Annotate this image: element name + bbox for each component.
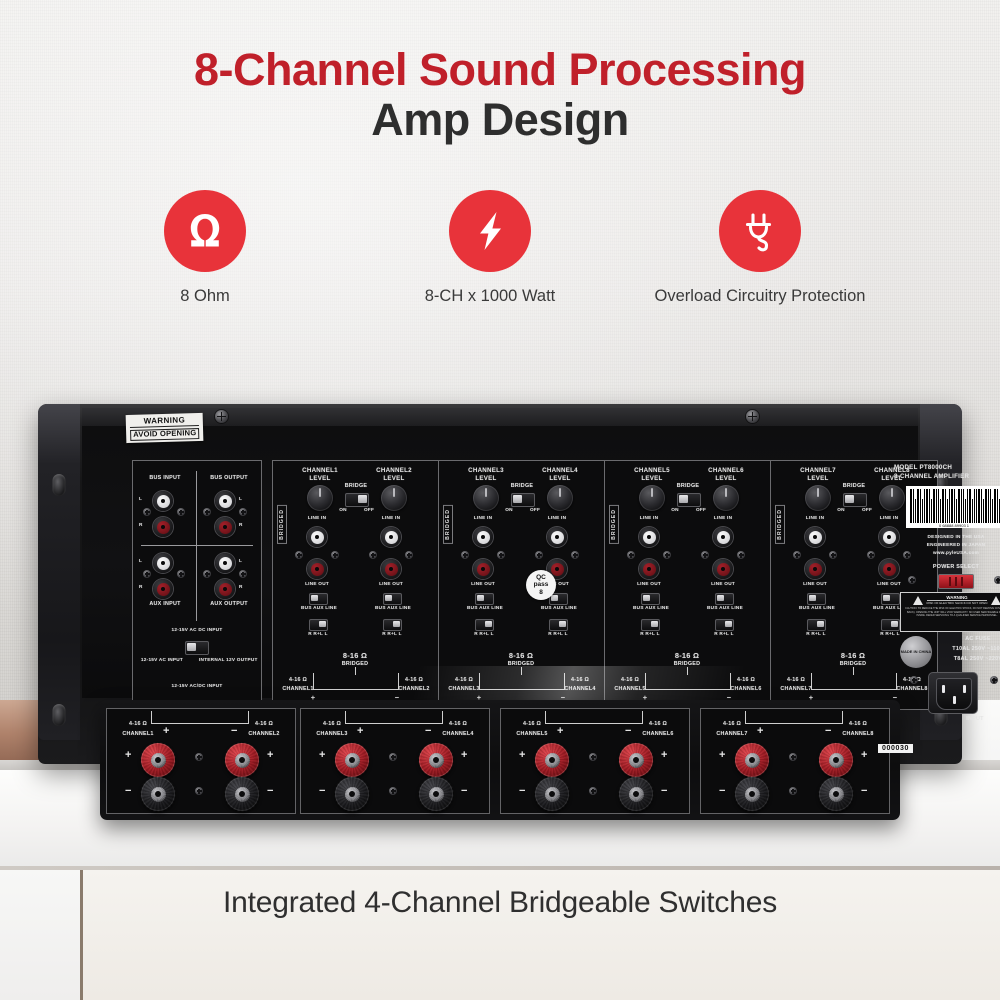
bridge-plus-sign: + [557,725,563,737]
ohm-icon [181,207,229,255]
channel-a-name: CHANNEL5 [619,467,685,475]
binding-post-a-positive[interactable] [335,743,369,777]
channel-a-line-in-jack[interactable] [473,527,493,547]
website-label: www.pyleUSA.com [894,550,1000,556]
fuse-220v-label: T8AL 250V ~220V [938,656,1000,663]
channel-b-level-knob[interactable] [713,485,739,511]
rack-mount-hole [53,474,66,496]
channel-a-bus-aux-line-label: BUS AUX LINE [291,605,347,611]
feature-icon-circle [719,190,801,272]
product-marketing-image: 8-Channel Sound Processing Amp Design 8 … [0,0,1000,1000]
channel-b-impedance-label: 4-16 Ω [393,677,435,684]
bus-input-right-jack[interactable] [153,517,173,537]
channel-b-line-out-label: LINE OUT [709,581,737,587]
binding-post-b-negative[interactable] [619,777,653,811]
panel-screw [331,551,339,559]
terminal-b-plus-sign: + [861,749,867,761]
bridge-bracket-stem [853,667,854,675]
channel-module-3-4: BRIDGED CHANNEL3 LEVEL LINE IN LINE OUT … [438,460,606,710]
bridge-off-label: OFF [361,507,377,513]
terminal-a-channel: CHANNEL1 [111,731,165,738]
channel-b-level-label: LEVEL [527,475,593,483]
binding-post-b-negative[interactable] [225,777,259,811]
barcode [906,486,1000,528]
feature-icon-circle [449,190,531,272]
speaker-terminal-module-7-8: 4-16 Ω CHANNEL7 4-16 Ω CHANNEL8 + − + + … [700,708,890,814]
channel-a-rrl-label: R R+L L [791,631,841,637]
channel-a-line-out-label: LINE OUT [303,581,331,587]
terminal-a-minus-sign: − [319,785,325,797]
feature-label: 8 Ohm [90,286,320,307]
panel-screw [497,551,505,559]
channel-b-rrl-switch[interactable] [715,619,734,631]
bus-output-label: BUS OUTPUT [205,475,253,482]
channel-a-line-in-label: LINE IN [469,515,497,521]
panel-screw [239,508,247,516]
electric-shock-warning-box: WARNING RISK OF ELECTRIC SHOCK DO NOT OP… [900,592,1000,632]
bridge-switch[interactable] [677,493,701,507]
internal-output-label: INTERNAL 12V OUTPUT [199,657,255,663]
bus-input-left-letter: L [139,496,142,502]
bridged-impedance-label: 8-16 Ω [653,651,721,660]
product-type-label: 8-CHANNEL AMPLIFIER [894,473,1000,481]
channel-b-source-switch[interactable] [383,593,402,605]
feature-item-protection: Overload Circuitry Protection [645,190,875,307]
panel-screw [239,570,247,578]
feature-item-ohm: 8 Ohm [90,190,320,307]
input-label: INPUT [950,716,1000,723]
panel-screw [369,551,377,559]
channel-b-terminal-name: CHANNEL4 [559,686,601,693]
channel-b-name: CHANNEL2 [361,467,427,475]
panel-screw [990,676,998,684]
channel-a-rrl-switch[interactable] [475,619,494,631]
bridge-plus-sign: + [163,725,169,737]
panel-screw [177,570,185,578]
channel-a-source-switch[interactable] [641,593,660,605]
channel-b-line-out-jack[interactable] [381,559,401,579]
panel-screw [405,551,413,559]
channel-a-level-label: LEVEL [785,475,851,483]
bus-input-right-letter: R [139,522,143,528]
panel-screw [701,551,709,559]
channel-b-level-label: LEVEL [361,475,427,483]
panel-screw [908,576,916,584]
panel-screw [589,787,597,795]
terminal-b-plus-sign: + [461,749,467,761]
panel-screw [793,551,801,559]
channel-b-bus-aux-line-label: BUS AUX LINE [531,605,587,611]
bridged-impedance-label: 8-16 Ω [487,651,555,660]
channel-b-terminal-name: CHANNEL2 [393,686,435,693]
channel-a-impedance-label: 4-16 Ω [277,677,319,684]
bridge-bracket [479,673,565,690]
aux-output-right-jack[interactable] [215,579,235,599]
headline-block: 8-Channel Sound Processing Amp Design [0,46,1000,146]
channel-a-source-switch[interactable] [309,593,328,605]
bridge-minus-sign: − [625,725,631,737]
aux-input-right-jack[interactable] [153,579,173,599]
binding-post-b-negative[interactable] [419,777,453,811]
bridge-bracket [811,673,897,690]
channel-b-line-in-jack[interactable] [381,527,401,547]
bridged-vertical-label: BRIDGED [277,505,287,544]
bridge-minus-sign: − [231,725,237,737]
panel-screw [295,551,303,559]
binding-post-b-positive[interactable] [619,743,653,777]
qc-line-3: 8 [539,589,543,596]
channel-b-level-knob[interactable] [547,485,573,511]
dc-input-label: 12-15V AC DC INPUT [167,627,227,633]
qc-pass-sticker: QC pass 8 [526,570,556,600]
terminal-b-plus-sign: + [267,749,273,761]
terminal-b-plus-sign: + [661,749,667,761]
channel-b-terminal-name: CHANNEL6 [725,686,767,693]
feature-label: Overload Circuitry Protection [645,286,875,307]
qc-line-2: pass [534,581,549,588]
bridge-plus-sign: + [357,725,363,737]
channel-a-level-knob[interactable] [805,485,831,511]
feature-icon-circle [164,190,246,272]
bottom-caption: Integrated 4-Channel Bridgeable Switches [0,886,1000,920]
panel-screw [627,551,635,559]
binding-post-a-positive[interactable] [141,743,175,777]
channel-a-line-out-label: LINE OUT [801,581,829,587]
bridge-switch[interactable] [511,493,535,507]
product-info-panel: MODEL PT8000CH 8-CHANNEL AMPLIFIER 0 688… [894,460,1000,708]
panel-screw [589,753,597,761]
channel-a-rrl-switch[interactable] [641,619,660,631]
terminal-b-channel: CHANNEL8 [831,731,885,738]
channel-a-level-knob[interactable] [307,485,333,511]
bridge-switch[interactable] [345,493,369,507]
panel-screw [461,551,469,559]
panel-screw [789,753,797,761]
channel-a-impedance-label: 4-16 Ω [443,677,485,684]
channel-b-source-switch[interactable] [715,593,734,605]
panel-screw [389,753,397,761]
power-plug-icon [735,206,785,256]
iec-power-inlet[interactable] [928,672,978,714]
panel-screw [571,551,579,559]
panel-screw [867,551,875,559]
channel-a-bus-aux-line-label: BUS AUX LINE [623,605,679,611]
channel-a-level-label: LEVEL [453,475,519,483]
panel-screw [910,676,918,684]
io-divider-vertical [196,471,197,621]
bus-output-right-jack[interactable] [215,517,235,537]
channel-b-line-out-jack[interactable] [713,559,733,579]
binding-post-a-negative[interactable] [535,777,569,811]
bus-input-label: BUS INPUT [143,475,187,482]
panel-screw [663,551,671,559]
channel-module-1-2: BRIDGED CHANNEL1 LEVEL LINE IN LINE OUT … [272,460,440,710]
power-select-switch[interactable] [938,574,974,589]
power-select-label: POWER SELECT [894,564,1000,571]
binding-post-b-positive[interactable] [819,743,853,777]
channel-b-rrl-label: R R+L L [533,631,583,637]
feature-icon-row: 8 Ohm 8-CH x 1000 Watt [0,190,1000,340]
bus-output-left-jack[interactable] [215,491,235,511]
barcode-number: 0 68888 89903 1 [906,523,1000,528]
terminal-b-channel: CHANNEL4 [431,731,485,738]
channel-a-level-knob[interactable] [639,485,665,511]
channel-a-rrl-label: R R+L L [293,631,343,637]
bridge-label: BRIDGE [497,483,547,490]
channel-a-bus-aux-line-label: BUS AUX LINE [789,605,845,611]
channel-a-line-in-jack[interactable] [307,527,327,547]
bridge-label: BRIDGE [663,483,713,490]
serial-number-sticker: 000030 [878,744,913,753]
bridge-on-label: ON [667,507,683,513]
bridge-bracket-stem [521,667,522,675]
binding-post-a-negative[interactable] [735,777,769,811]
channel-a-bus-aux-line-label: BUS AUX LINE [457,605,513,611]
terminal-b-channel: CHANNEL2 [237,731,291,738]
channel-b-line-out-label: LINE OUT [377,581,405,587]
channel-a-level-knob[interactable] [473,485,499,511]
channel-a-source-switch[interactable] [807,593,826,605]
channel-a-line-out-jack[interactable] [307,559,327,579]
warning-triangle-icon-right [991,596,1000,605]
channel-b-rrl-switch[interactable] [549,619,568,631]
speaker-terminal-module-1-2: 4-16 Ω CHANNEL1 4-16 Ω CHANNEL2 + − + + … [106,708,296,814]
channel-a-terminal-name: CHANNEL7 [775,686,817,693]
terminal-a-minus-sign: − [719,785,725,797]
terminal-a-plus-sign: + [519,749,525,761]
channel-a-terminal-name: CHANNEL5 [609,686,651,693]
channel-a-line-out-jack[interactable] [473,559,493,579]
rack-mount-hole [53,704,66,726]
channel-b-line-in-label: LINE IN [709,515,737,521]
lightning-bolt-icon [466,207,514,255]
terminal-b-minus-sign: − [861,785,867,797]
warning-body-text: CAUTION: TO REDUCE THE RISK OF ELECTRIC … [903,607,1000,616]
channel-b-rrl-switch[interactable] [383,619,402,631]
binding-post-b-negative[interactable] [819,777,853,811]
bridged-impedance-label: 8-16 Ω [321,651,389,660]
fuse-110v-label: T10AL 250V ~110V [938,646,1000,653]
panel-screw [195,753,203,761]
channel-a-name: CHANNEL7 [785,467,851,475]
bridge-on-label: ON [501,507,517,513]
terminal-a-minus-sign: − [125,785,131,797]
aux-output-left-letter: L [239,558,242,564]
speaker-terminal-module-3-4: 4-16 Ω CHANNEL3 4-16 Ω CHANNEL4 + − + + … [300,708,490,814]
designed-in-label: DESIGNED IN THE USA [894,534,1000,540]
panel-screw [829,551,837,559]
aux-input-right-letter: R [139,584,143,590]
made-in-text: MADE IN CHINA [901,650,932,655]
aux-input-left-jack[interactable] [153,553,173,573]
bridge-bracket [745,711,843,724]
chassis-screw [746,410,759,423]
headline-line-2: Amp Design [0,94,1000,146]
panel-screw [143,508,151,516]
aux-input-label: AUX INPUT [143,601,187,608]
warning-sticker-subtitle: AVOID OPENING [130,428,199,441]
headline-line-1: 8-Channel Sound Processing [0,46,1000,94]
channel-a-rrl-label: R R+L L [459,631,509,637]
aux-output-left-jack[interactable] [215,553,235,573]
channel-b-line-in-label: LINE IN [377,515,405,521]
bus-input-left-jack[interactable] [153,491,173,511]
channel-a-rrl-label: R R+L L [625,631,675,637]
channel-b-line-in-jack[interactable] [547,527,567,547]
channel-a-source-switch[interactable] [475,593,494,605]
feature-item-power: 8-CH x 1000 Watt [375,190,605,307]
channel-a-line-in-jack[interactable] [805,527,825,547]
channel-b-line-in-jack[interactable] [713,527,733,547]
chassis-screw [215,410,228,423]
channel-a-impedance-label: 4-16 Ω [609,677,651,684]
engineered-in-label: ENGINEERED IN JAPAN [894,542,1000,548]
bridge-plus-sign: + [757,725,763,737]
channel-a-terminal-name: CHANNEL1 [277,686,319,693]
channel-b-line-in-label: LINE IN [543,515,571,521]
channel-b-rrl-label: R R+L L [699,631,749,637]
terminal-b-minus-sign: − [661,785,667,797]
channel-a-level-label: LEVEL [619,475,685,483]
channel-b-bus-aux-line-label: BUS AUX LINE [697,605,753,611]
panel-screw [177,508,185,516]
channel-a-line-in-label: LINE IN [303,515,331,521]
channel-b-impedance-label: 4-16 Ω [559,677,601,684]
bridge-off-label: OFF [527,507,543,513]
io-divider-horizontal [141,545,253,546]
binding-post-a-positive[interactable] [535,743,569,777]
binding-post-b-positive[interactable] [225,743,259,777]
channel-a-impedance-label: 4-16 Ω [775,677,817,684]
terminal-a-plus-sign: + [125,749,131,761]
ac-input-label: 12-15V AC INPUT [137,657,187,663]
warning-sticker-title: WARNING [130,415,200,428]
bus-output-left-letter: L [239,496,242,502]
rack-ear-left [38,404,80,740]
bus-output-right-letter: R [239,522,243,528]
panel-screw [143,570,151,578]
bridge-bracket [151,711,249,724]
amplifier-rear-panel: WARNING AVOID OPENING BUS INPUT BUS OUTP… [38,404,962,772]
bridge-on-label: ON [335,507,351,513]
terminal-a-channel: CHANNEL7 [705,731,759,738]
channel-a-level-label: LEVEL [287,475,353,483]
binding-post-a-negative[interactable] [335,777,369,811]
terminal-a-plus-sign: + [319,749,325,761]
amplifier-faceplate: WARNING AVOID OPENING BUS INPUT BUS OUTP… [82,426,918,698]
bridge-on-label: ON [833,507,849,513]
terminal-a-channel: CHANNEL5 [505,731,559,738]
warning-subtitle: RISK OF ELECTRIC SHOCK DO NOT OPEN [927,602,988,605]
feature-label: 8-CH x 1000 Watt [375,286,605,307]
bridge-bracket-stem [687,667,688,675]
channel-a-terminal-name: CHANNEL3 [443,686,485,693]
panel-screw [994,576,1000,584]
binding-post-a-positive[interactable] [735,743,769,777]
channel-b-level-knob[interactable] [381,485,407,511]
bridge-label: BRIDGE [331,483,381,490]
terminal-b-minus-sign: − [461,785,467,797]
panel-screw [535,551,543,559]
bridge-switch[interactable] [843,493,867,507]
model-label: MODEL PT8000CH [894,464,1000,472]
qc-line-1: QC [536,574,546,581]
acdc-input-label: 12-15V AC/DC INPUT [147,683,247,689]
binding-post-b-positive[interactable] [419,743,453,777]
bridge-off-label: OFF [859,507,875,513]
channel-b-name: CHANNEL6 [693,467,759,475]
aux-output-label: AUX OUTPUT [205,601,253,608]
speaker-terminal-row: 4-16 Ω CHANNEL1 4-16 Ω CHANNEL2 + − + + … [100,700,900,820]
warning-avoid-opening-sticker: WARNING AVOID OPENING [126,413,204,443]
channel-module-5-6: BRIDGED CHANNEL5 LEVEL LINE IN LINE OUT … [604,460,772,710]
channel-a-name: CHANNEL1 [287,467,353,475]
bridge-bracket-stem [355,667,356,675]
channel-a-rrl-switch[interactable] [807,619,826,631]
ac-dc-input-switch[interactable] [185,641,209,655]
bridge-bracket [645,673,731,690]
panel-screw [203,508,211,516]
channel-a-line-out-label: LINE OUT [635,581,663,587]
terminal-a-minus-sign: − [519,785,525,797]
channel-b-name: CHANNEL4 [527,467,593,475]
channel-b-impedance-label: 4-16 Ω [725,677,767,684]
aux-output-right-letter: R [239,584,243,590]
channel-a-line-out-label: LINE OUT [469,581,497,587]
panel-screw [789,787,797,795]
panel-screw [389,787,397,795]
channel-a-line-in-label: LINE IN [801,515,829,521]
channel-a-line-out-jack[interactable] [639,559,659,579]
bridged-vertical-label: BRIDGED [775,505,785,544]
bridged-vertical-label: BRIDGED [443,505,453,544]
bridge-off-label: OFF [693,507,709,513]
ac-fuse-label: AC FUSE [938,636,1000,643]
channel-b-bus-aux-line-label: BUS AUX LINE [365,605,421,611]
made-in-china-sticker: MADE IN CHINA [900,636,932,668]
terminal-b-channel: CHANNEL6 [631,731,685,738]
bridge-minus-sign: − [825,725,831,737]
terminal-a-plus-sign: + [719,749,725,761]
chassis-top-bar [82,408,918,426]
warning-triangle-icon-left [913,596,923,605]
bridge-bracket [545,711,643,724]
bridged-impedance-label: 8-16 Ω [819,651,887,660]
panel-screw [737,551,745,559]
terminal-a-channel: CHANNEL3 [305,731,359,738]
bridge-bracket [313,673,399,690]
channel-a-line-in-jack[interactable] [639,527,659,547]
bridge-bracket [345,711,443,724]
channel-a-line-in-label: LINE IN [635,515,663,521]
bridge-label: BRIDGE [829,483,879,490]
channel-a-name: CHANNEL3 [453,467,519,475]
binding-post-a-negative[interactable] [141,777,175,811]
panel-screw [203,570,211,578]
channel-b-rrl-label: R R+L L [367,631,417,637]
terminal-b-minus-sign: − [267,785,273,797]
channel-a-rrl-switch[interactable] [309,619,328,631]
bridge-minus-sign: − [425,725,431,737]
channel-a-line-out-jack[interactable] [805,559,825,579]
bus-aux-io-block: BUS INPUT BUS OUTPUT L R L R L R [132,460,262,710]
aux-input-left-letter: L [139,558,142,564]
bridged-vertical-label: BRIDGED [609,505,619,544]
channel-b-level-label: LEVEL [693,475,759,483]
speaker-terminal-module-5-6: 4-16 Ω CHANNEL5 4-16 Ω CHANNEL6 + − + + … [500,708,690,814]
panel-screw [195,787,203,795]
